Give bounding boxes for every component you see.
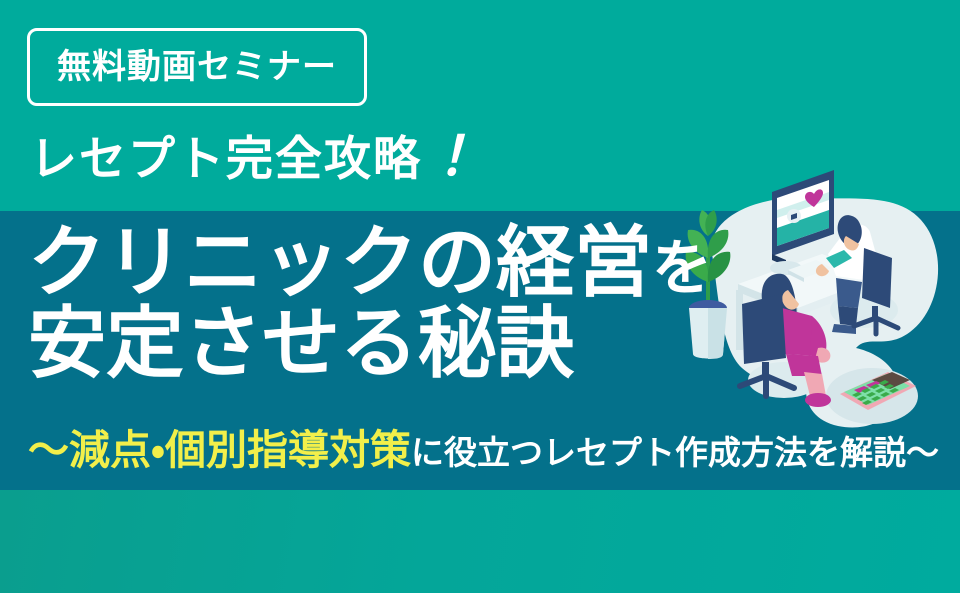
headline-line-1-particle: を [652, 235, 712, 302]
headline-line-1-text: クリニックの経営 [28, 218, 652, 306]
kicker-exclamation: ！ [422, 127, 480, 187]
staff-chair-back [862, 248, 892, 308]
patient-skirt [786, 354, 822, 376]
subline-rest: に役立つレセプト作成方法を解説〜 [411, 434, 939, 471]
clinic-consultation-illustration [676, 158, 960, 436]
background-band-bottom [0, 490, 960, 593]
free-seminar-badge-label: 無料動画セミナー [57, 50, 337, 84]
subline: 〜減点・個別指導対策に役立つレセプト作成方法を解説〜 [28, 430, 939, 471]
staff-lap [836, 278, 862, 308]
patient-shoes [805, 393, 831, 407]
headline-line-2: 安定させる秘訣 [28, 303, 712, 384]
kicker-label: レセプト完全攻略 [30, 132, 422, 185]
desk-leg-left [736, 290, 743, 350]
kicker-text: レセプト完全攻略！ [30, 126, 480, 188]
headline-line-1: クリニックの経営を [28, 222, 712, 303]
patient-chair-back [742, 294, 786, 364]
free-seminar-badge: 無料動画セミナー [27, 28, 367, 106]
seminar-banner: 無料動画セミナー レセプト完全攻略！ クリニックの経営を 安定させる秘訣 〜減点… [0, 0, 960, 593]
headline: クリニックの経営を 安定させる秘訣 [28, 222, 712, 384]
subline-highlight: 〜減点・個別指導対策 [28, 427, 411, 473]
